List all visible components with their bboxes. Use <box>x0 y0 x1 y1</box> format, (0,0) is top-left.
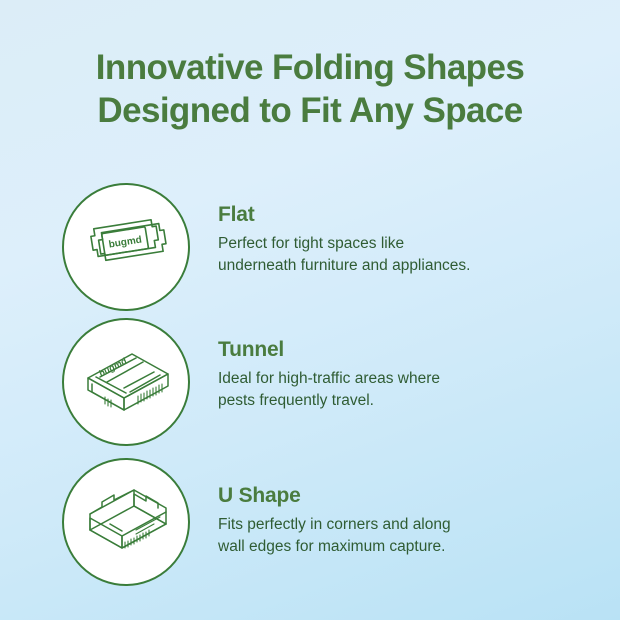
feature-description-line-2: wall edges for maximum capture. <box>218 536 562 558</box>
feature-text-u-shape: U Shape Fits perfectly in corners and al… <box>190 458 562 558</box>
feature-text-flat: Flat Perfect for tight spaces like under… <box>190 183 562 277</box>
feature-description-line-1: Fits perfectly in corners and along <box>218 514 562 536</box>
headline-line-1: Innovative Folding Shapes <box>0 47 620 90</box>
brand-label: bugmd <box>108 235 143 251</box>
headline-line-2: Designed to Fit Any Space <box>0 90 620 133</box>
feature-description-line-1: Ideal for high-traffic areas where <box>218 368 562 390</box>
feature-description-line-2: underneath furniture and appliances. <box>218 255 562 277</box>
feature-description-line-1: Perfect for tight spaces like <box>218 233 562 255</box>
feature-title: Tunnel <box>218 338 562 362</box>
u-shape-trap-icon <box>62 458 190 586</box>
feature-description: Fits perfectly in corners and along wall… <box>218 514 562 558</box>
feature-title: U Shape <box>218 484 562 508</box>
infographic-page: Innovative Folding Shapes Designed to Fi… <box>0 0 620 620</box>
tunnel-trap-icon: bugmd <box>62 318 190 446</box>
feature-description-line-2: pests frequently travel. <box>218 390 562 412</box>
feature-description: Ideal for high-traffic areas where pests… <box>218 368 562 412</box>
feature-row-tunnel: bugmd Tunnel Ideal for high-traffic area… <box>62 318 562 446</box>
flat-trap-icon: bugmd <box>62 183 190 311</box>
feature-text-tunnel: Tunnel Ideal for high-traffic areas wher… <box>190 318 562 412</box>
brand-label: bugmd <box>98 356 128 379</box>
page-title: Innovative Folding Shapes Designed to Fi… <box>0 47 620 132</box>
feature-title: Flat <box>218 203 562 227</box>
feature-description: Perfect for tight spaces like underneath… <box>218 233 562 277</box>
feature-row-flat: bugmd Flat Perfect for tight spaces like… <box>62 183 562 311</box>
feature-row-u-shape: U Shape Fits perfectly in corners and al… <box>62 458 562 586</box>
